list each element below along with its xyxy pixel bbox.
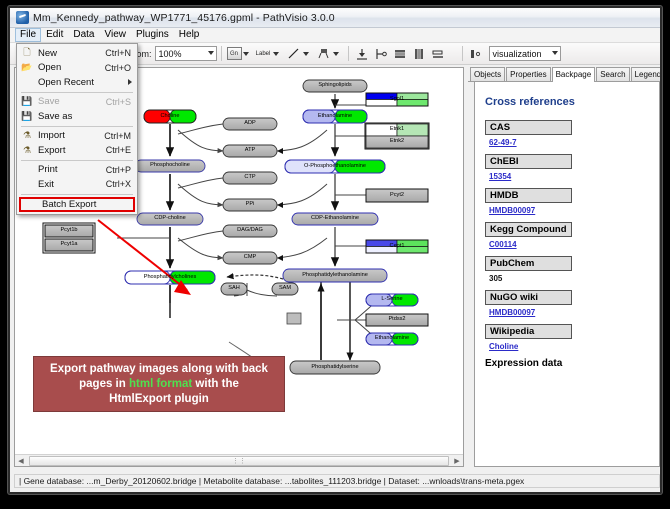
xref-pubchem: PubChem 305 (485, 256, 649, 283)
node-cept1 (366, 240, 428, 253)
zoom-value: 100% (159, 49, 182, 59)
callout-line-3: HtmlExport plugin (109, 392, 209, 407)
menu-plugins[interactable]: Plugins (131, 28, 174, 42)
align-top-tool-icon[interactable] (354, 46, 371, 61)
file-menu-open[interactable]: 📂 Open Ctrl+O (17, 61, 137, 76)
xref-cas: CAS 62-49-7 (485, 120, 649, 147)
node-adp (223, 118, 277, 130)
screenshot-root: Mm_Kennedy_pathway_WP1771_45176.gpml - P… (0, 0, 670, 509)
annotation-callout: Export pathway images along with back pa… (33, 356, 285, 412)
xref-cas-value[interactable]: 62-49-7 (485, 135, 649, 147)
file-menu-batch-export-label: Batch Export (39, 199, 133, 210)
node-cdp-ethanolamine (292, 213, 378, 225)
node-etnk1 (366, 124, 428, 136)
xref-cas-link[interactable]: 62-49-7 (489, 138, 517, 147)
align-left-tool-icon[interactable] (373, 46, 390, 61)
file-menu-open-recent-label: Open Recent (35, 77, 137, 88)
visualization-tool-icon[interactable] (468, 46, 485, 61)
tab-objects[interactable]: Objects (470, 67, 505, 81)
file-menu-separator-4 (21, 194, 133, 195)
toolbar-separator (221, 46, 222, 61)
xref-nugo-link[interactable]: HMDB00097 (489, 308, 535, 317)
backpage-content[interactable]: Cross references CAS 62-49-7 ChEBI 15354… (474, 82, 660, 467)
tab-properties[interactable]: Properties (506, 67, 550, 81)
xref-kegg-link[interactable]: C00114 (489, 240, 517, 249)
file-menu-open-recent[interactable]: Open Recent (17, 75, 137, 90)
file-menu-export[interactable]: ⚗ Export Ctrl+E (17, 143, 137, 158)
xref-wikipedia: Wikipedia Choline (485, 324, 649, 351)
file-menu-separator-2 (21, 126, 133, 127)
shape-tool-icon[interactable] (315, 46, 332, 61)
label-tool-icon[interactable]: Label (255, 46, 272, 61)
node-sphingolipids (303, 80, 367, 92)
window-title: Mm_Kennedy_pathway_WP1771_45176.gpml - P… (33, 12, 335, 24)
xref-cas-label: CAS (485, 120, 572, 135)
file-menu-save-accel: Ctrl+S (106, 97, 137, 107)
title-bar: Mm_Kennedy_pathway_WP1771_45176.gpml - P… (10, 8, 660, 28)
file-menu-save-label: Save (35, 96, 106, 107)
stack-tool-icon[interactable] (430, 46, 447, 61)
import-icon: ⚗ (19, 130, 35, 141)
tab-legend[interactable]: Legend (631, 67, 662, 81)
file-menu-batch-export[interactable]: Batch Export (19, 197, 135, 212)
callout-line-2b: with the (192, 378, 239, 390)
application-window: Mm_Kennedy_pathway_WP1771_45176.gpml - P… (8, 6, 662, 494)
node-ctp (223, 172, 277, 184)
node-choline-top (144, 110, 196, 123)
node-phosphatidylserine (290, 361, 380, 374)
node-pcyt1b (45, 225, 93, 237)
expression-data-heading: Expression data (485, 358, 649, 369)
menu-view[interactable]: View (99, 28, 131, 42)
xref-chebi-value[interactable]: 15354 (485, 169, 649, 181)
file-menu-open-accel: Ctrl+O (105, 63, 137, 73)
file-menu-open-label: Open (35, 62, 105, 73)
xref-chebi-link[interactable]: 15354 (489, 172, 511, 181)
zoom-combo[interactable]: 100% (155, 46, 217, 61)
xref-nugo: NuGO wiki HMDB00097 (485, 290, 649, 317)
line-dropdown-icon[interactable] (303, 52, 309, 56)
node-sah (221, 283, 247, 295)
xref-kegg: Kegg Compound C00114 (485, 222, 649, 249)
visualization-combo[interactable]: visualization (489, 46, 561, 61)
file-menu-dropdown[interactable]: 🗋 New Ctrl+N 📂 Open Ctrl+O Open Recent 💾… (16, 43, 138, 215)
scroll-right-icon[interactable]: ▶ (451, 455, 463, 466)
save-as-icon: 💾 (19, 111, 35, 122)
xref-chebi: ChEBI 15354 (485, 154, 649, 181)
menu-data[interactable]: Data (68, 28, 99, 42)
chevron-down-icon-2 (552, 51, 558, 55)
xref-wikipedia-value[interactable]: Choline (485, 339, 649, 351)
file-menu-exit[interactable]: Exit Ctrl+X (17, 177, 137, 192)
callout-line-2a: pages in (79, 378, 129, 390)
xref-hmdb: HMDB HMDB00097 (485, 188, 649, 215)
xref-hmdb-value[interactable]: HMDB00097 (485, 203, 649, 215)
label-dropdown-icon[interactable] (273, 52, 279, 56)
toolbar-separator-3 (462, 46, 463, 61)
file-menu-save: 💾 Save Ctrl+S (17, 95, 137, 110)
node-sgpl1 (366, 93, 428, 106)
file-menu-separator-3 (21, 160, 133, 161)
node-cmp (223, 252, 277, 264)
file-menu-new-accel: Ctrl+N (105, 48, 137, 58)
visualization-value: visualization (493, 49, 542, 59)
status-text: | Gene database: ...m_Derby_20120602.bri… (19, 476, 524, 486)
file-menu-print-accel: Ctrl+P (106, 165, 137, 175)
xref-hmdb-link[interactable]: HMDB00097 (489, 206, 535, 215)
file-menu-import-accel: Ctrl+M (104, 131, 137, 141)
node-ethanolamine-top (303, 110, 367, 123)
file-menu-export-label: Export (35, 145, 106, 156)
node-o-phosphoethanolamine (285, 160, 385, 173)
xref-chebi-label: ChEBI (485, 154, 572, 169)
node-ppi (223, 199, 277, 211)
xref-nugo-label: NuGO wiki (485, 290, 572, 305)
menu-edit[interactable]: Edit (41, 28, 68, 42)
menu-file[interactable]: File (15, 28, 41, 42)
xref-kegg-label: Kegg Compound (485, 222, 572, 237)
xref-wikipedia-label: Wikipedia (485, 324, 572, 339)
file-menu-import-label: Import (35, 130, 104, 141)
file-menu-new-label: New (35, 48, 105, 59)
submenu-arrow-icon (128, 79, 132, 85)
menu-help[interactable]: Help (174, 28, 205, 42)
distribute-horizontal-tool-icon[interactable] (411, 46, 428, 61)
file-menu-exit-label: Exit (35, 179, 106, 190)
callout-line-2: pages in html format with the (79, 377, 239, 392)
shape-dropdown-icon[interactable] (333, 52, 339, 56)
xref-kegg-value[interactable]: C00114 (485, 237, 649, 249)
xref-pubchem-label: PubChem (485, 256, 572, 271)
file-menu-print[interactable]: Print Ctrl+P (17, 163, 137, 178)
node-pcyt2 (366, 189, 428, 202)
node-ptdss2 (366, 314, 428, 326)
node-sam (272, 283, 298, 295)
file-menu-save-as[interactable]: 💾 Save as (17, 109, 137, 124)
file-menu-separator-1 (21, 92, 133, 93)
canvas-horizontal-scrollbar[interactable]: ◀ ⋮⋮ ▶ (15, 454, 463, 466)
callout-line-1: Export pathway images along with back (50, 362, 268, 377)
node-ethanolamine-bottom (366, 333, 418, 345)
node-phosphocholine (135, 160, 205, 172)
file-menu-exit-accel: Ctrl+X (106, 179, 137, 189)
toolbar-separator-2 (348, 46, 349, 61)
distribute-vertical-tool-icon[interactable] (392, 46, 409, 61)
pathvisio-icon (16, 11, 29, 24)
chevron-down-icon (208, 51, 214, 55)
file-menu-print-label: Print (35, 164, 106, 175)
file-menu-save-as-label: Save as (35, 111, 131, 122)
status-bar: | Gene database: ...m_Derby_20120602.bri… (14, 474, 660, 488)
node-phosphatidylethanolamine (283, 269, 387, 282)
node-dag (223, 225, 277, 237)
file-menu-import[interactable]: ⚗ Import Ctrl+M (17, 129, 137, 144)
save-icon: 💾 (19, 96, 35, 107)
line-tool-icon[interactable] (285, 46, 302, 61)
new-file-icon: 🗋 (19, 45, 35, 61)
folder-open-icon: 📂 (19, 62, 35, 73)
xref-wikipedia-link[interactable]: Choline (489, 342, 518, 351)
file-menu-new[interactable]: 🗋 New Ctrl+N (17, 46, 137, 61)
xref-hmdb-label: HMDB (485, 188, 572, 203)
cross-references-title: Cross references (485, 96, 649, 108)
node-atp (223, 145, 277, 157)
side-panel: Objects Properties Backpage Search Legen… (468, 67, 660, 467)
node-cdp-choline (137, 213, 203, 225)
file-menu-export-accel: Ctrl+E (106, 145, 137, 155)
gene-product-dropdown-icon[interactable] (243, 52, 249, 56)
xref-pubchem-value: 305 (485, 271, 649, 283)
node-l-serine (366, 294, 418, 306)
tab-search[interactable]: Search (596, 67, 629, 81)
callout-highlight: html format (129, 378, 192, 390)
side-panel-tabs[interactable]: Objects Properties Backpage Search Legen… (468, 67, 660, 82)
scroll-thumb[interactable]: ⋮⋮ (29, 456, 449, 466)
gene-product-tool-icon[interactable]: Gn (227, 47, 242, 60)
scroll-left-icon[interactable]: ◀ (15, 455, 27, 466)
tab-backpage[interactable]: Backpage (552, 67, 596, 82)
menu-bar[interactable]: File Edit Data View Plugins Help (10, 28, 660, 43)
export-icon: ⚗ (19, 145, 35, 156)
xref-nugo-value[interactable]: HMDB00097 (485, 305, 649, 317)
